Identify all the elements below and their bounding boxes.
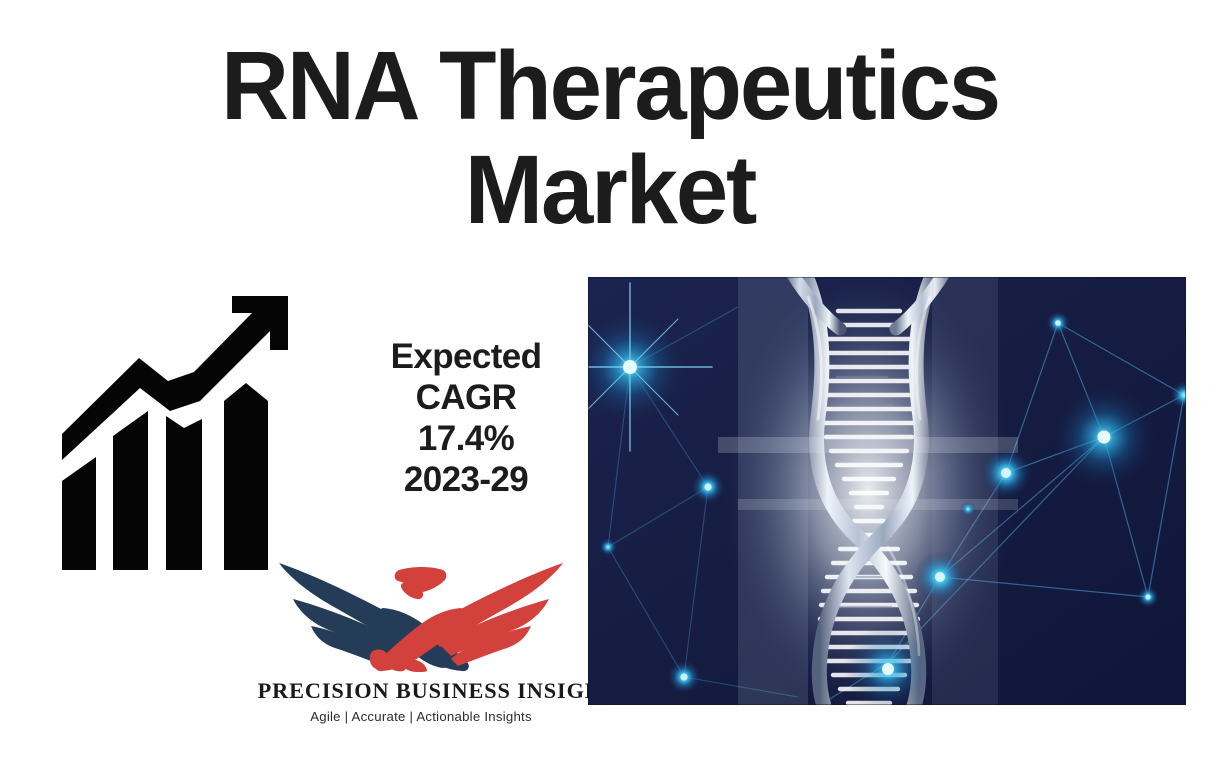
company-logo: PRECISION BUSINESS INSIGHTS Agile | Accu…	[256, 552, 586, 724]
logo-tagline: Agile | Accurate | Actionable Insights	[256, 709, 586, 724]
page-title-line-2: Market	[125, 138, 1095, 242]
logo-wordmark: PRECISION BUSINESS INSIGHTS	[258, 678, 585, 704]
cagr-period: 2023-29	[330, 459, 602, 500]
dna-helix-network-image	[588, 277, 1186, 705]
infographic-canvas: RNA Therapeutics Market Expected CAGR 17…	[0, 0, 1220, 768]
cagr-value: 17.4%	[330, 418, 602, 459]
eagle-handshake-logo-mark-icon	[271, 552, 571, 672]
expected-cagr-callout: Expected CAGR 17.4% 2023-29	[330, 336, 602, 500]
cagr-label-line-2: CAGR	[330, 377, 602, 418]
page-title-line-1: RNA Therapeutics	[125, 34, 1095, 138]
page-title: RNA Therapeutics Market	[110, 34, 1110, 242]
growth-bar-chart-arrow-icon	[56, 288, 306, 578]
cagr-label-line-1: Expected	[330, 336, 602, 377]
